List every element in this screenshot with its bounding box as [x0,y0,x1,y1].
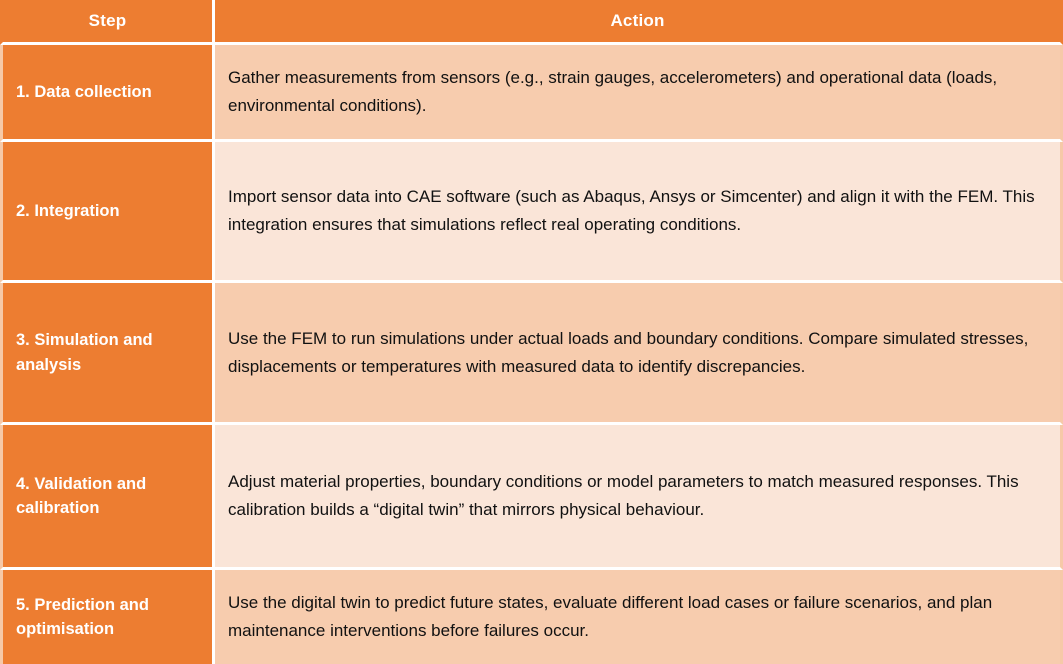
step-cell-5: 5. Prediction and optimisation [0,570,215,664]
action-text-1: Gather measurements from sensors (e.g., … [228,64,1044,119]
table-header-row: Step Action [0,0,1063,45]
action-cell-1: Gather measurements from sensors (e.g., … [215,45,1063,142]
action-text-5: Use the digital twin to predict future s… [228,589,1044,644]
table-row: 4. Validation and calibration Adjust mat… [0,425,1063,570]
action-text-3: Use the FEM to run simulations under act… [228,325,1044,380]
action-cell-2: Import sensor data into CAE software (su… [215,142,1063,283]
step-cell-4: 4. Validation and calibration [0,425,215,570]
table-row: 3. Simulation and analysis Use the FEM t… [0,283,1063,425]
column-header-step-label: Step [89,8,127,33]
step-label-1: 1. Data collection [16,80,152,104]
process-steps-table: Step Action 1. Data collection Gather me… [0,0,1063,664]
step-cell-3: 3. Simulation and analysis [0,283,215,425]
step-cell-2: 2. Integration [0,142,215,283]
step-cell-1: 1. Data collection [0,45,215,142]
column-header-action: Action [215,0,1063,45]
step-label-2: 2. Integration [16,199,120,223]
table-row: 5. Prediction and optimisation Use the d… [0,570,1063,664]
action-text-4: Adjust material properties, boundary con… [228,468,1044,523]
column-header-step: Step [0,0,215,45]
step-label-5: 5. Prediction and optimisation [16,593,198,642]
table-row: 1. Data collection Gather measurements f… [0,45,1063,142]
action-cell-3: Use the FEM to run simulations under act… [215,283,1063,425]
action-cell-5: Use the digital twin to predict future s… [215,570,1063,664]
step-label-4: 4. Validation and calibration [16,472,198,521]
action-text-2: Import sensor data into CAE software (su… [228,183,1044,238]
column-header-action-label: Action [610,7,664,35]
action-cell-4: Adjust material properties, boundary con… [215,425,1063,570]
table-row: 2. Integration Import sensor data into C… [0,142,1063,283]
step-label-3: 3. Simulation and analysis [16,328,198,377]
